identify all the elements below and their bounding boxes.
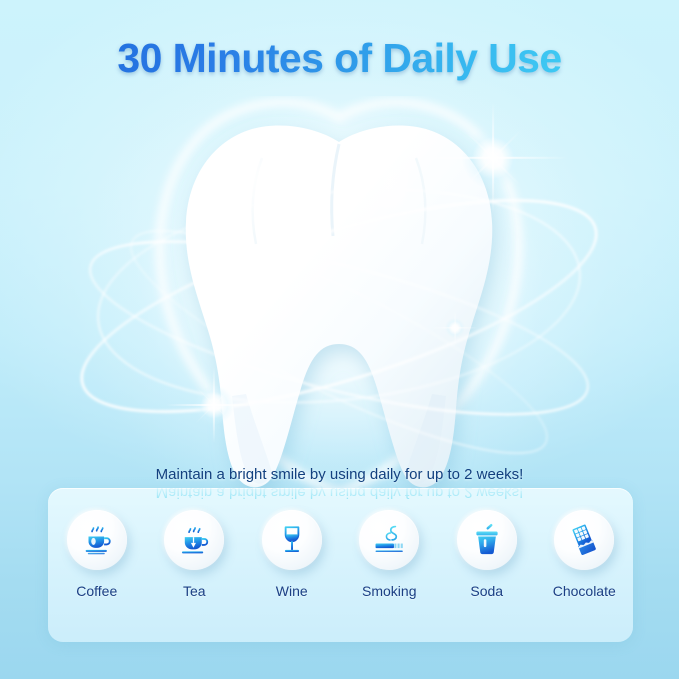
item-label-smoking: Smoking [362, 583, 416, 599]
tooth-shape [186, 125, 492, 487]
chocolate-bar-icon [567, 523, 601, 557]
stain-sources-panel: Coffee [48, 488, 633, 642]
list-item-soda[interactable]: Soda [439, 510, 534, 599]
tagline-reflection: Maintain a bright smile by using daily f… [0, 484, 679, 501]
tagline-area: Maintain a bright smile by using daily f… [0, 466, 679, 501]
poster-canvas: 30 Minutes of Daily Use [0, 0, 679, 679]
coffee-icon-badge[interactable] [67, 510, 127, 570]
tea-cup-icon [177, 523, 211, 557]
soda-cup-icon [470, 523, 504, 557]
page-title: 30 Minutes of Daily Use [117, 36, 561, 82]
item-label-coffee: Coffee [76, 583, 117, 599]
tagline-text: Maintain a bright smile by using daily f… [0, 466, 679, 483]
smoking-icon-badge[interactable] [359, 510, 419, 570]
soda-icon-badge[interactable] [457, 510, 517, 570]
stain-sources-list: Coffee [48, 510, 633, 599]
list-item-coffee[interactable]: Coffee [49, 510, 144, 599]
list-item-tea[interactable]: Tea [147, 510, 242, 599]
cigarette-icon [372, 523, 406, 557]
list-item-smoking[interactable]: Smoking [342, 510, 437, 599]
wine-icon-badge[interactable] [262, 510, 322, 570]
tooth-hero-illustration [0, 96, 679, 496]
item-label-tea: Tea [183, 583, 206, 599]
chocolate-icon-badge[interactable] [554, 510, 614, 570]
item-label-chocolate: Chocolate [553, 583, 616, 599]
list-item-chocolate[interactable]: Chocolate [537, 510, 632, 599]
item-label-soda: Soda [470, 583, 503, 599]
title-area: 30 Minutes of Daily Use [0, 36, 679, 82]
list-item-wine[interactable]: Wine [244, 510, 339, 599]
coffee-cup-icon [80, 523, 114, 557]
tooth-graphic [0, 96, 679, 496]
tea-icon-badge[interactable] [164, 510, 224, 570]
wine-glass-icon [275, 523, 309, 557]
item-label-wine: Wine [276, 583, 308, 599]
